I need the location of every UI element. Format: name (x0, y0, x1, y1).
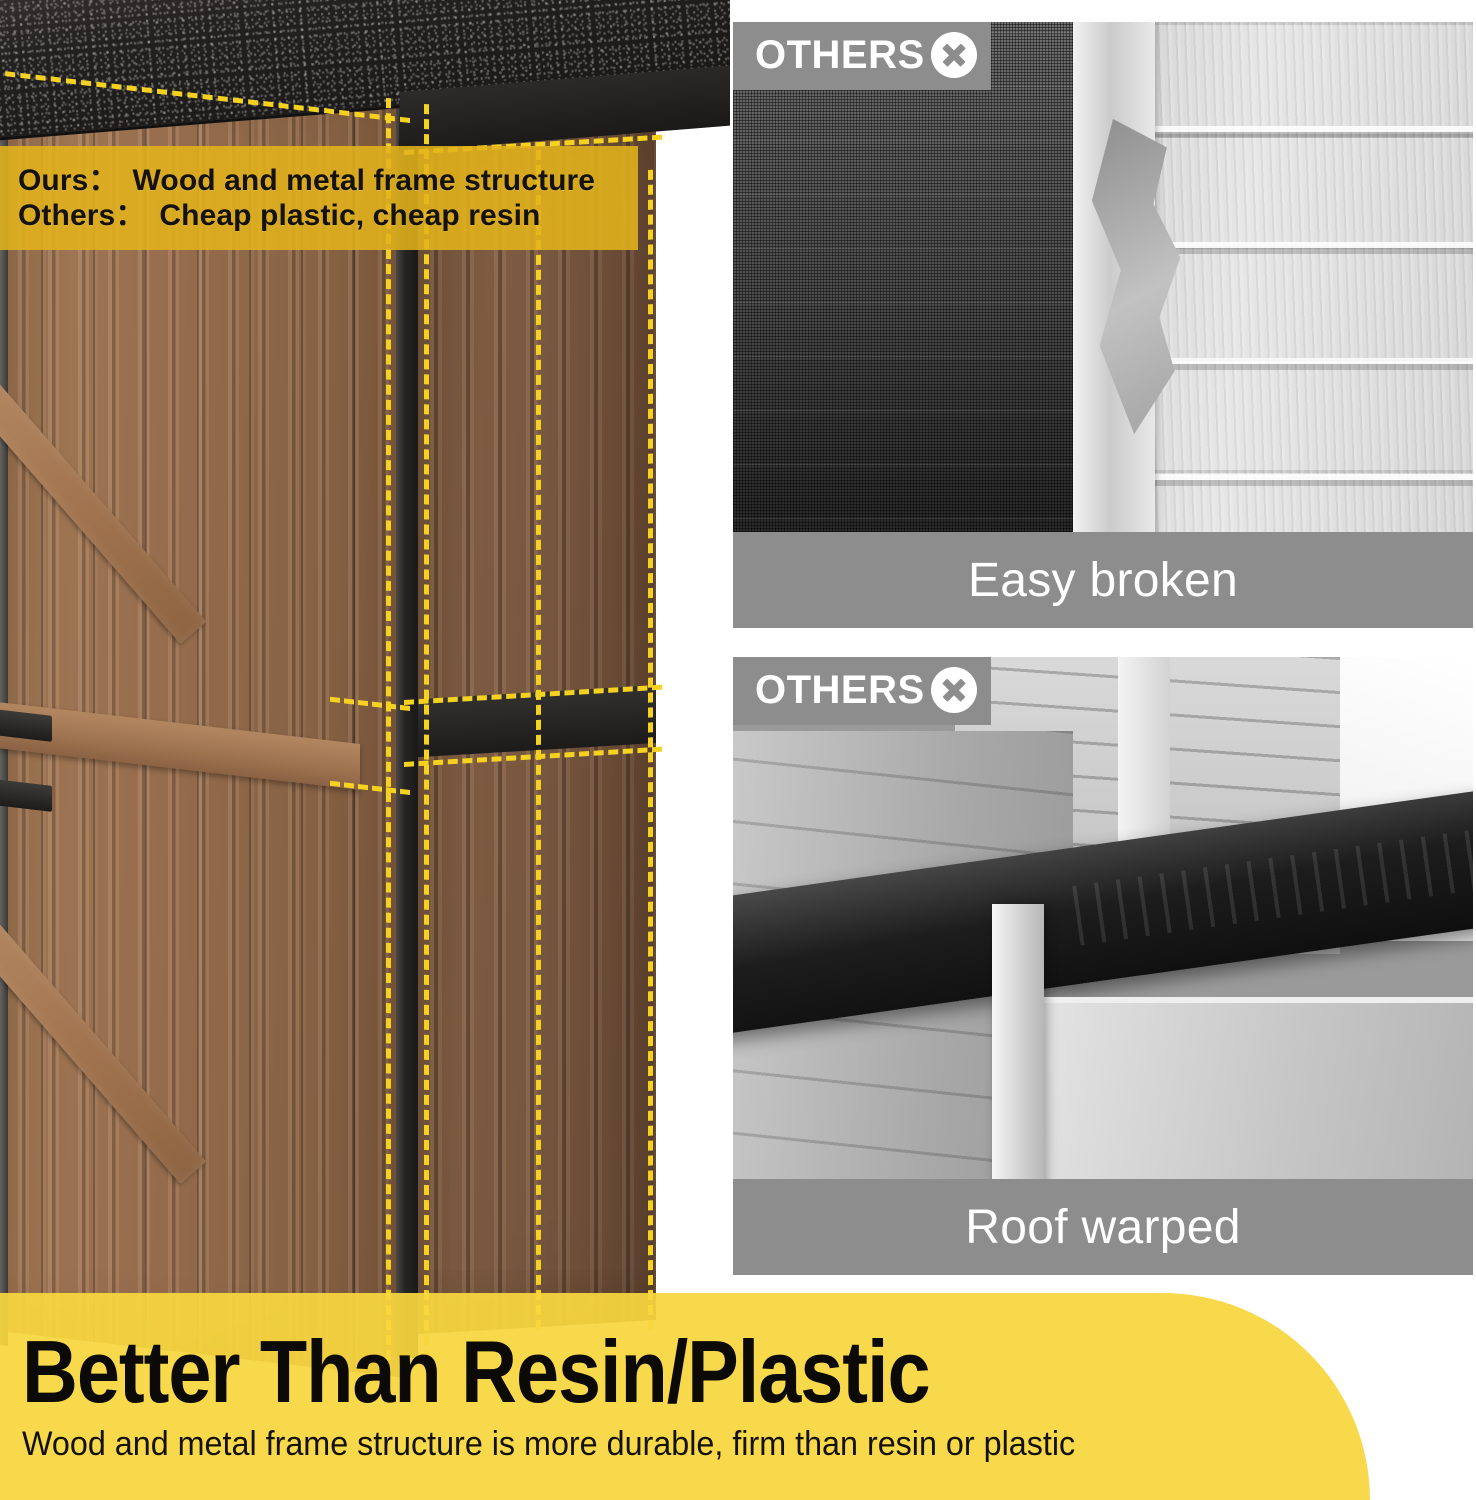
callout-label-ours: Ours： (18, 164, 119, 197)
comparison-panel-roof-warped: OTHERS Roof warped (733, 657, 1473, 1275)
panel-caption-bar: Roof warped (733, 1179, 1473, 1275)
circle-x-icon (931, 667, 977, 713)
others-badge-label: OTHERS (755, 35, 925, 75)
frame-highlight-side-mid (536, 150, 541, 1330)
callout-line-others: Others：Cheap plastic, cheap resin (18, 199, 638, 232)
callout-text-others: Cheap plastic, cheap resin (159, 199, 540, 232)
hero-product-image: Ours：Wood and metal frame structure Othe… (0, 0, 730, 1500)
panel-caption-text: Roof warped (965, 1200, 1240, 1255)
others-badge: OTHERS (733, 657, 991, 725)
shed-corner-post (396, 92, 418, 1358)
frame-highlight-corner-right (424, 104, 429, 1360)
panel-caption-text: Easy broken (968, 553, 1238, 608)
others-badge: OTHERS (733, 22, 991, 90)
others-badge-label: OTHERS (755, 670, 925, 710)
bottom-banner: Better Than Resin/Plastic Wood and metal… (0, 1293, 1370, 1500)
banner-subheadline: Wood and metal frame structure is more d… (22, 1425, 1286, 1464)
callout-text-ours: Wood and metal frame structure (133, 164, 596, 197)
ours-vs-others-callout: Ours：Wood and metal frame structure Othe… (0, 146, 638, 250)
circle-x-icon (931, 32, 977, 78)
callout-label-others: Others： (18, 199, 145, 232)
frame-highlight-corner-left (386, 98, 391, 1360)
comparison-panel-easy-broken: OTHERS Easy broken (733, 22, 1473, 628)
panel-caption-bar: Easy broken (733, 532, 1473, 628)
callout-line-ours: Ours：Wood and metal frame structure (18, 164, 638, 197)
banner-headline: Better Than Resin/Plastic (22, 1329, 1192, 1415)
